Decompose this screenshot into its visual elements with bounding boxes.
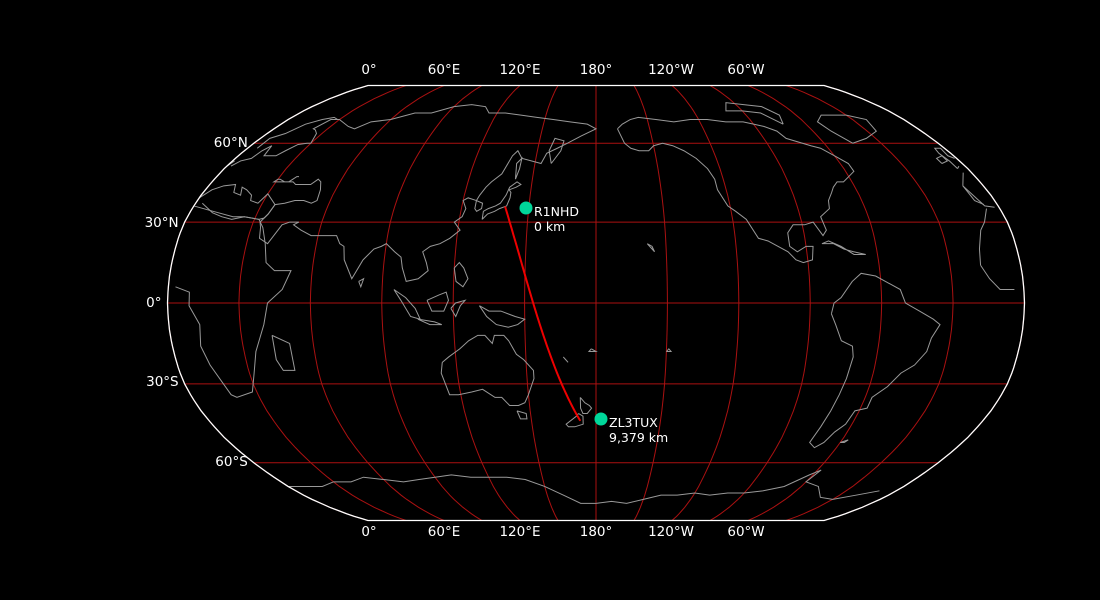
lon-tick-top-4: 120°W (648, 62, 694, 78)
lat-tick-1: 30°N (145, 215, 179, 231)
lon-tick-top-3: 180° (580, 62, 613, 78)
station-distance: 9,379 km (609, 430, 668, 445)
station-label-ZL3TUX: ZL3TUX9,379 km (609, 415, 668, 445)
lat-tick-0: 60°N (214, 135, 248, 151)
lon-tick-bottom-5: 60°W (727, 524, 764, 540)
station-callsign: ZL3TUX (609, 415, 668, 430)
lat-tick-2: 0° (146, 295, 161, 311)
map-figure: Robinson Projection PM95 to RE66HO (156°… (0, 0, 1100, 600)
map-background (0, 0, 1100, 600)
lat-tick-3: 30°S (146, 374, 179, 390)
station-distance: 0 km (534, 219, 579, 234)
lon-tick-bottom-0: 0° (361, 524, 376, 540)
station-callsign: R1NHD (534, 204, 579, 219)
lon-tick-bottom-1: 60°E (428, 524, 460, 540)
lon-tick-top-0: 0° (361, 62, 376, 78)
lon-tick-bottom-2: 120°E (499, 524, 540, 540)
lon-tick-bottom-4: 120°W (648, 524, 694, 540)
lon-tick-top-5: 60°W (727, 62, 764, 78)
lon-tick-top-2: 120°E (499, 62, 540, 78)
lon-tick-bottom-3: 180° (580, 524, 613, 540)
lon-tick-top-1: 60°E (428, 62, 460, 78)
station-label-R1NHD: R1NHD0 km (534, 204, 579, 234)
robinson-map-canvas (0, 0, 1100, 600)
lat-tick-4: 60°S (215, 454, 248, 470)
